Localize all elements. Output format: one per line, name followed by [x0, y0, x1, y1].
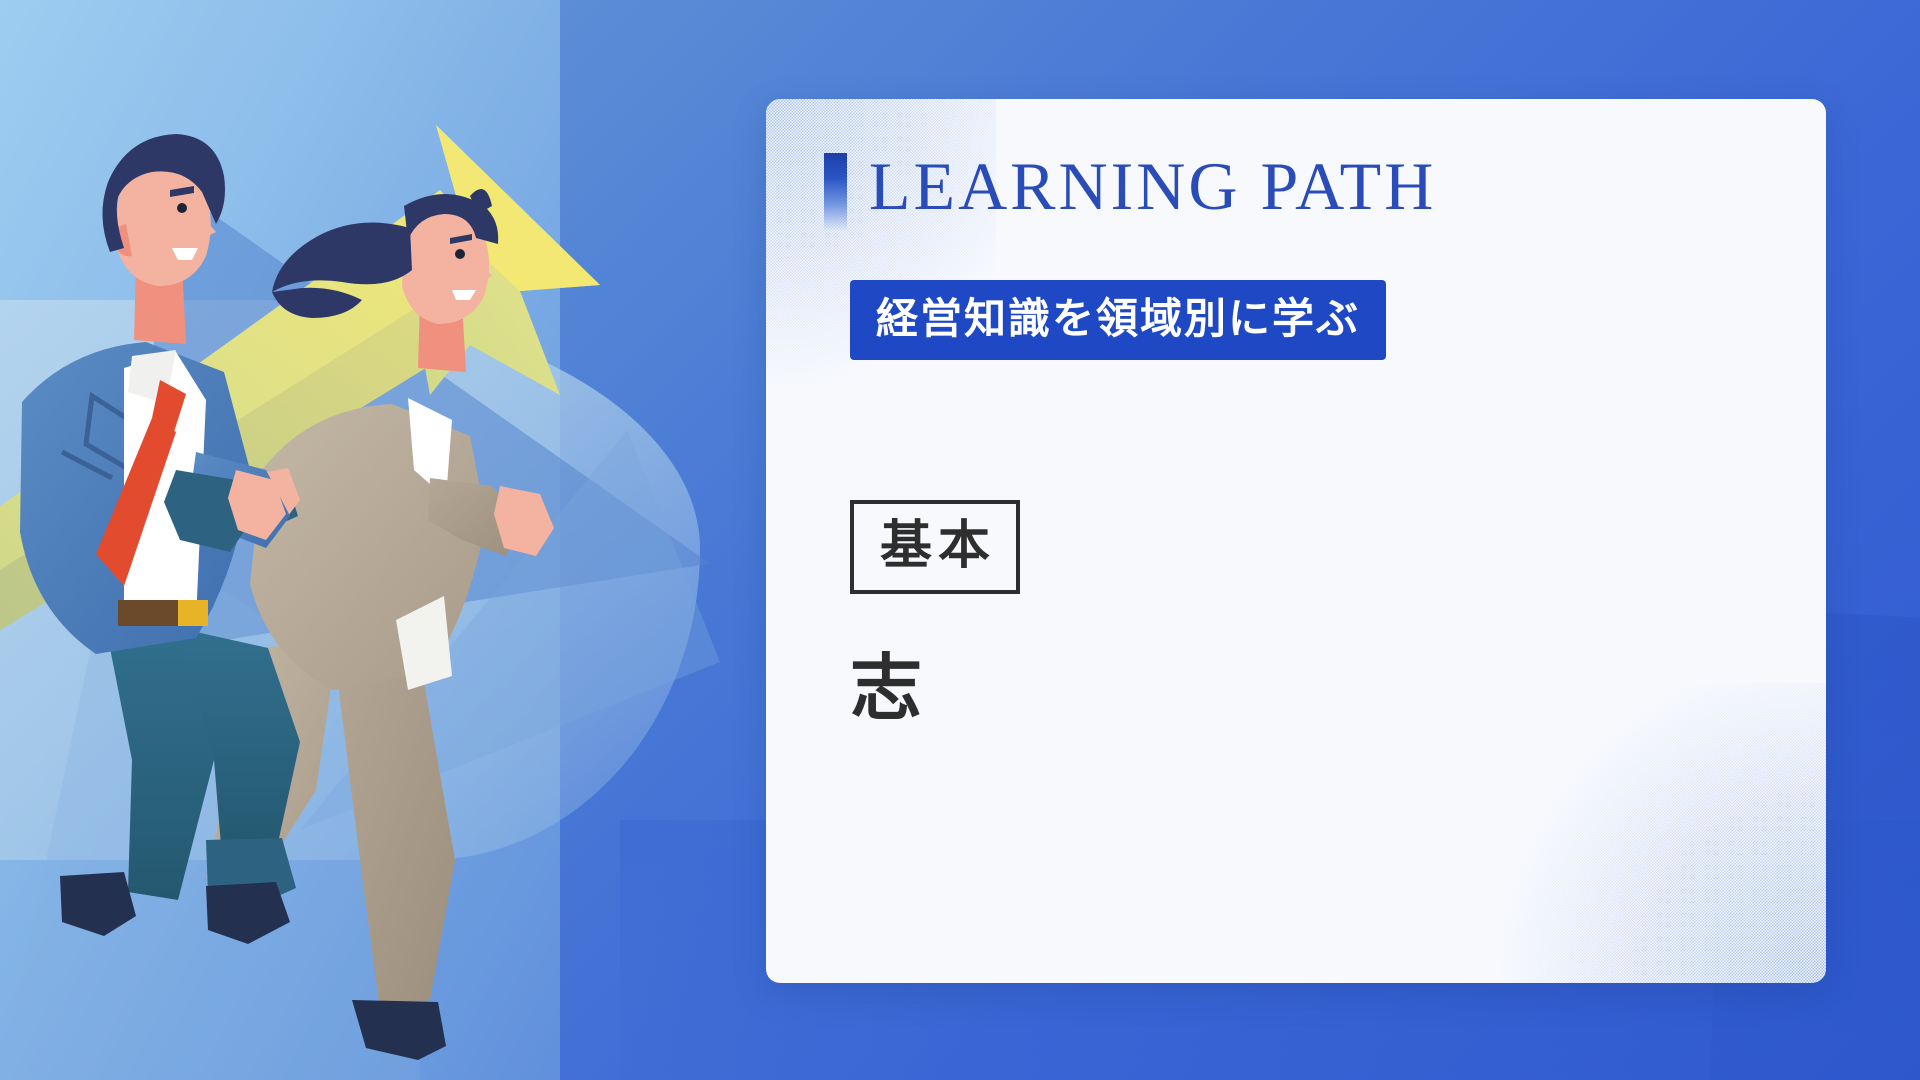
level-label: 基本: [850, 500, 1020, 594]
card-header: LEARNING PATH: [824, 149, 1436, 231]
slide-canvas: LEARNING PATH 経営知識を領域別に学ぶ 基本 志: [0, 0, 1920, 1080]
learning-path-card: LEARNING PATH 経営知識を領域別に学ぶ 基本 志: [766, 99, 1826, 983]
page-title: LEARNING PATH: [869, 149, 1436, 223]
accent-bar: [824, 153, 847, 231]
category-badge[interactable]: 経営知識を領域別に学ぶ: [850, 280, 1386, 360]
subject-title: 志: [850, 650, 924, 728]
running-people-illustration: [0, 0, 640, 1080]
